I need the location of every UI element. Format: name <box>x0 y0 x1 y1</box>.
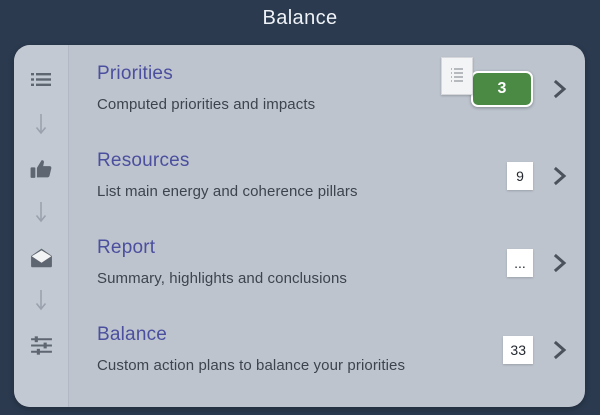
status-badge[interactable]: 9 <box>507 162 533 190</box>
envelope-icon[interactable] <box>28 244 54 270</box>
document-icon <box>441 57 473 95</box>
list-item[interactable]: Priorities Computed priorities and impac… <box>69 45 585 132</box>
badge-wrap: ... <box>507 249 533 277</box>
list-item[interactable]: Report Summary, highlights and conclusio… <box>69 219 585 306</box>
badge-wrap: 33 <box>503 336 533 364</box>
row-texts: Resources List main energy and coherence… <box>97 149 507 202</box>
rail-slot-envelope <box>28 235 54 279</box>
chevron-right-icon[interactable] <box>549 337 571 363</box>
arrow-down-icon <box>33 191 49 235</box>
row-title: Report <box>97 236 507 260</box>
badge-wrap: 3 <box>471 71 533 107</box>
row-texts: Report Summary, highlights and conclusio… <box>97 236 507 289</box>
rail-slot-sliders <box>28 323 54 367</box>
list-icon[interactable] <box>28 68 54 94</box>
row-subtitle: List main energy and coherence pillars <box>97 182 507 202</box>
row-list: Priorities Computed priorities and impac… <box>69 45 585 407</box>
row-subtitle: Summary, highlights and conclusions <box>97 269 507 289</box>
row-texts: Priorities Computed priorities and impac… <box>97 62 471 115</box>
rail-slot-thumbs-up <box>28 147 54 191</box>
list-item[interactable]: Resources List main energy and coherence… <box>69 132 585 219</box>
arrow-down-icon <box>33 103 49 147</box>
app-root: Balance <box>0 0 600 415</box>
thumbs-up-icon[interactable] <box>28 156 54 182</box>
row-title: Resources <box>97 149 507 173</box>
icon-rail <box>14 45 69 407</box>
row-subtitle: Computed priorities and impacts <box>97 95 471 115</box>
rail-slot-list <box>28 59 54 103</box>
main-card: Priorities Computed priorities and impac… <box>14 45 585 407</box>
badge-wrap: 9 <box>507 162 533 190</box>
row-title: Balance <box>97 323 503 347</box>
arrow-down-icon <box>33 279 49 323</box>
row-subtitle: Custom action plans to balance your prio… <box>97 356 503 376</box>
row-title: Priorities <box>97 62 471 86</box>
list-item[interactable]: Balance Custom action plans to balance y… <box>69 306 585 393</box>
page-title: Balance <box>0 3 600 33</box>
status-badge[interactable]: ... <box>507 249 533 277</box>
chevron-right-icon[interactable] <box>549 163 571 189</box>
status-badge[interactable]: 3 <box>471 71 533 107</box>
chevron-right-icon[interactable] <box>549 250 571 276</box>
status-badge[interactable]: 33 <box>503 336 533 364</box>
chevron-right-icon[interactable] <box>549 76 571 102</box>
sliders-icon[interactable] <box>28 332 54 358</box>
row-texts: Balance Custom action plans to balance y… <box>97 323 503 376</box>
